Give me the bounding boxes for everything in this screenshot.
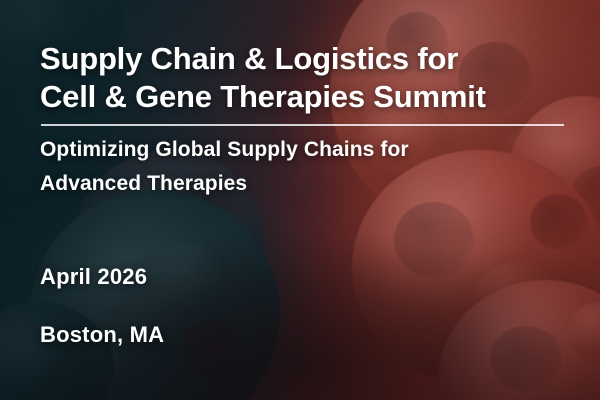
event-banner: Supply Chain & Logistics for Cell & Gene… — [0, 0, 600, 400]
event-subtitle-line-1: Optimizing Global Supply Chains for — [40, 133, 560, 167]
event-date: April 2026 — [40, 264, 147, 290]
event-title: Supply Chain & Logistics for Cell & Gene… — [40, 40, 570, 116]
banner-content: Supply Chain & Logistics for Cell & Gene… — [0, 0, 600, 400]
event-title-line-1: Supply Chain & Logistics for — [40, 40, 570, 78]
event-subtitle-line-2: Advanced Therapies — [40, 167, 560, 201]
title-divider — [41, 124, 564, 126]
event-subtitle: Optimizing Global Supply Chains for Adva… — [40, 133, 560, 201]
event-location: Boston, MA — [40, 322, 164, 348]
event-title-line-2: Cell & Gene Therapies Summit — [40, 78, 570, 116]
